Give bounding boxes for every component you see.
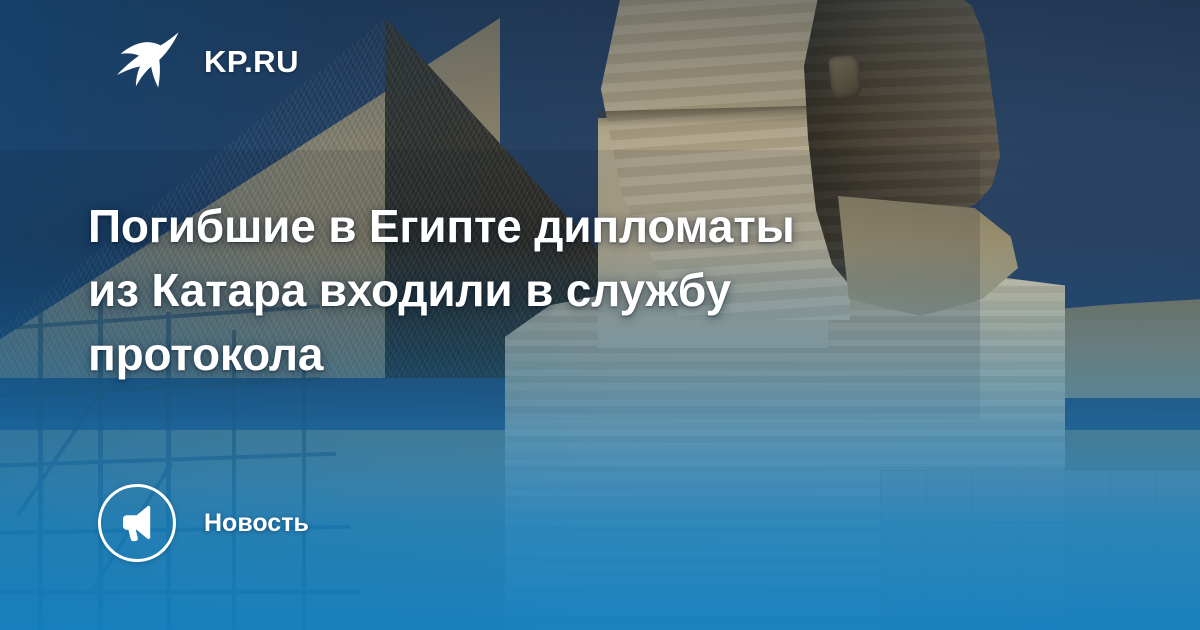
headline-line-3: протокола: [88, 322, 1028, 386]
social-share-card: KP.RU Погибшие в Египте дипломаты из Кат…: [0, 0, 1200, 630]
headline-line-2: из Катара входили в службу: [88, 258, 1028, 322]
page-title: Погибшие в Египте дипломаты из Катара вх…: [88, 194, 1028, 386]
headline-line-1: Погибшие в Египте дипломаты: [88, 194, 1028, 258]
brand-name: KP.RU: [204, 46, 299, 77]
swallow-bird-icon: [110, 30, 182, 92]
badge-label: Новость: [204, 511, 309, 536]
badge-icon-circle: [98, 484, 176, 562]
brand-logo[interactable]: KP.RU: [110, 30, 299, 92]
megaphone-icon: [117, 503, 157, 543]
card-content: KP.RU Погибшие в Египте дипломаты из Кат…: [0, 0, 1200, 630]
category-badge[interactable]: Новость: [98, 484, 309, 562]
